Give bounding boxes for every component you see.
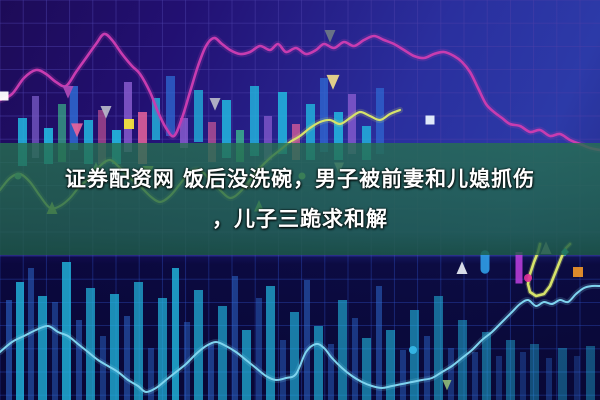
chart-canvas (0, 0, 600, 400)
volume-bars (6, 262, 595, 400)
stock-chart-banner: 证券配资网 饭后没洗碗，男子被前妻和儿媳抓伤 ，儿子三跪求和解 (0, 0, 600, 400)
